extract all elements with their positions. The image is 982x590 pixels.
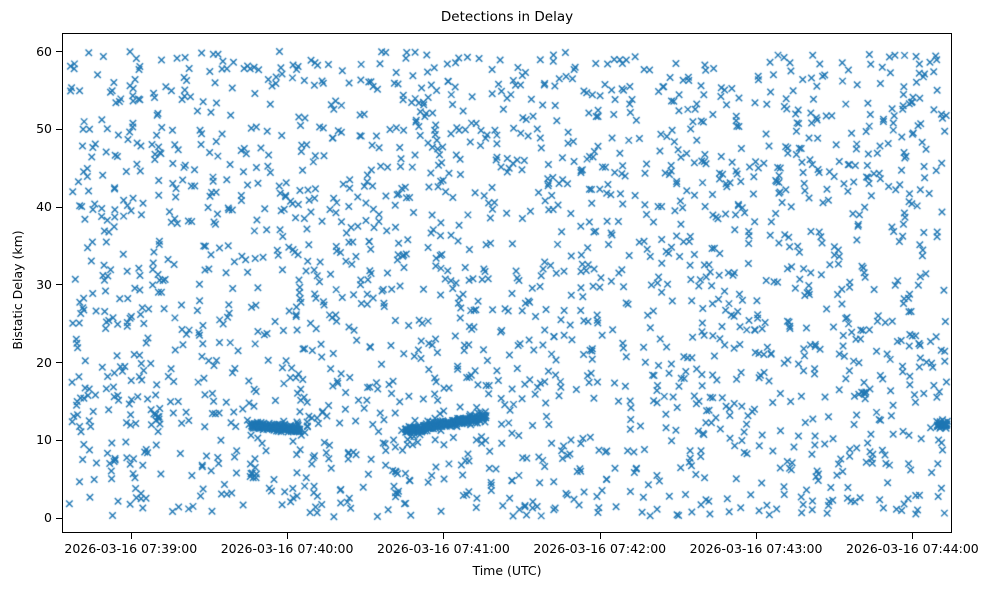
- y-tick-label: 10: [0, 433, 52, 446]
- y-axis-label: Bistatic Delay (km): [11, 190, 25, 390]
- y-tick-label: 20: [0, 356, 52, 369]
- x-tick-mark: [756, 533, 757, 539]
- plot-axes-area: [62, 33, 952, 533]
- y-tick-label: 60: [0, 45, 52, 58]
- y-tick-mark: [56, 284, 62, 285]
- x-axis-label: Time (UTC): [62, 563, 952, 578]
- y-tick-mark: [56, 518, 62, 519]
- x-tick-mark: [912, 533, 913, 539]
- y-tick-label: 0: [0, 511, 52, 524]
- y-tick-mark: [56, 129, 62, 130]
- y-tick-label: 50: [0, 122, 52, 135]
- y-tick-mark: [56, 440, 62, 441]
- x-tick-mark: [600, 533, 601, 539]
- y-tick-label: 30: [0, 278, 52, 291]
- matplotlib-figure: Detections in Delay 0102030405060 2026-0…: [0, 0, 982, 590]
- x-tick-label: 2026-03-16 07:44:00: [812, 541, 982, 556]
- y-tick-label: 40: [0, 200, 52, 213]
- y-tick-mark: [56, 362, 62, 363]
- scatter-plot-canvas: [63, 34, 952, 533]
- y-tick-mark: [56, 51, 62, 52]
- y-tick-mark: [56, 207, 62, 208]
- x-tick-mark: [287, 533, 288, 539]
- page-title: Detections in Delay: [62, 8, 952, 26]
- x-tick-mark: [131, 533, 132, 539]
- x-tick-mark: [443, 533, 444, 539]
